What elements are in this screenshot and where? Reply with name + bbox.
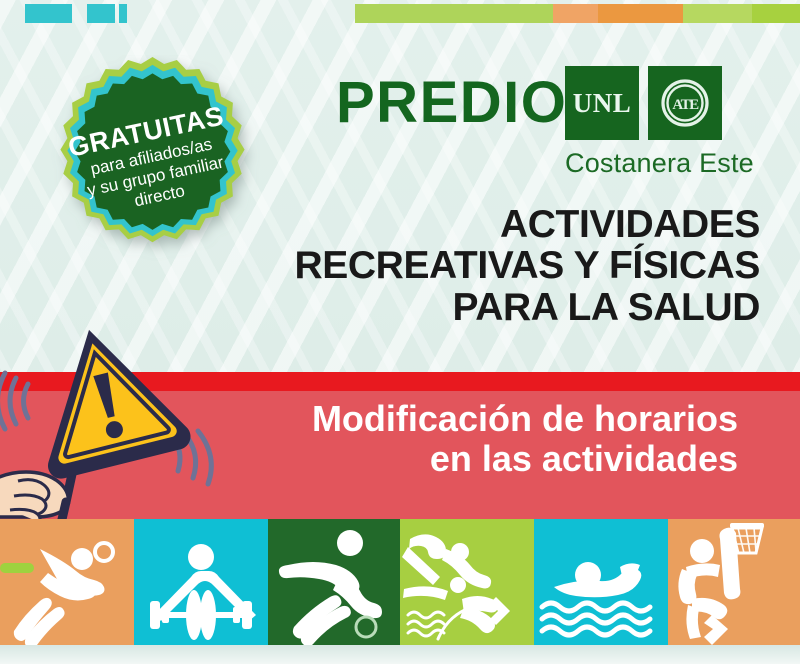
bottom-light-strip xyxy=(0,645,800,664)
heading-line-3: PARA LA SALUD xyxy=(180,287,760,328)
activity-cell-swimming[interactable] xyxy=(534,519,668,645)
soccer-icon xyxy=(268,519,400,645)
poster-canvas: GRATUITAS para afiliados/as y su grupo f… xyxy=(0,0,800,664)
heading-line-1: ACTIVIDADES xyxy=(180,204,760,245)
top-bar-orange-block-1 xyxy=(553,4,598,23)
kayak-cycling-icon xyxy=(400,519,534,645)
top-bar-teal-block-1 xyxy=(25,4,72,23)
basketball-icon xyxy=(668,519,800,645)
alert-line-1: Modificación de horarios xyxy=(180,399,738,439)
alert-line-2: en las actividades xyxy=(180,439,738,479)
swimming-icon xyxy=(534,519,668,645)
top-bar-green-block-3 xyxy=(752,4,800,23)
volleyball-dive-icon xyxy=(0,519,134,645)
unl-logo-text: UNL xyxy=(573,88,632,119)
top-bar-teal-block-3 xyxy=(119,4,127,23)
activity-cell-kayak[interactable] xyxy=(400,519,534,645)
top-bar-orange-block-2 xyxy=(598,4,683,23)
activity-cell-volleyball[interactable] xyxy=(0,519,134,645)
top-bar-green-block-2 xyxy=(683,4,752,23)
svg-text:ATE: ATE xyxy=(672,97,699,113)
weightlifting-icon xyxy=(134,519,268,645)
top-bar-green-block-1 xyxy=(355,4,553,23)
activity-cell-weightlifting[interactable] xyxy=(134,519,268,645)
warning-triangle-icon xyxy=(0,318,224,528)
main-heading: ACTIVIDADES RECREATIVAS Y FÍSICAS PARA L… xyxy=(180,204,760,328)
ate-emblem-icon: ATE xyxy=(659,77,711,129)
ate-logo-box: ATE xyxy=(648,66,722,140)
predio-logo-lockup: PREDIO UNL ATE Costanera Este xyxy=(336,66,756,186)
predio-wordmark: PREDIO xyxy=(336,74,567,132)
costanera-este-subtitle: Costanera Este xyxy=(565,148,754,179)
alert-band-text: Modificación de horarios en las activida… xyxy=(180,399,780,480)
unl-logo-box: UNL xyxy=(565,66,639,140)
activity-cell-soccer[interactable] xyxy=(268,519,400,645)
activity-icon-strip xyxy=(0,519,800,645)
heading-line-2: RECREATIVAS Y FÍSICAS xyxy=(180,245,760,286)
top-bar-teal-block-2 xyxy=(87,4,115,23)
activity-cell-basketball[interactable] xyxy=(668,519,800,645)
